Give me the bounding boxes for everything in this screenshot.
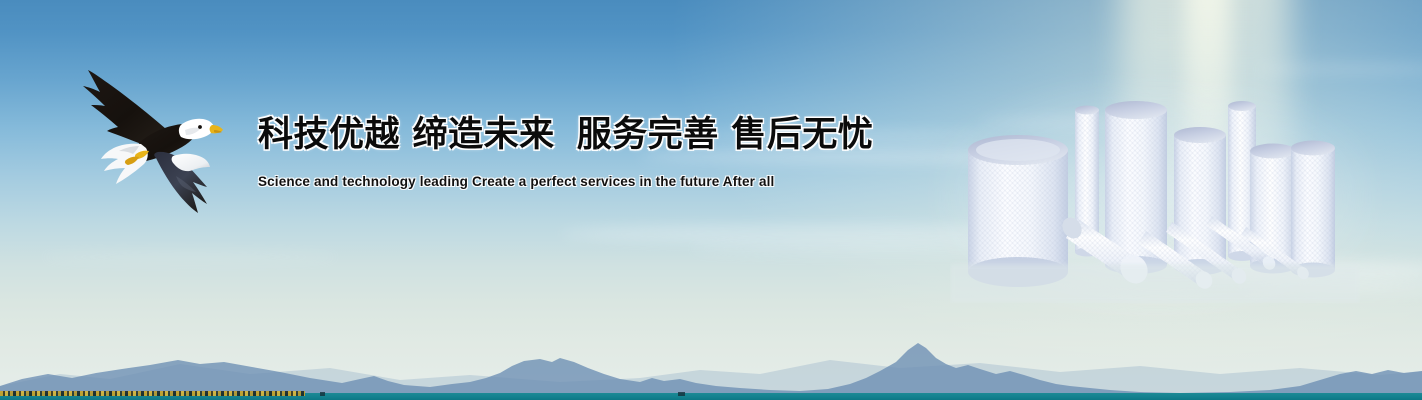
shoreline-detail <box>0 391 305 396</box>
product-image-ptfe-cylinders <box>950 88 1360 303</box>
headline-part-1: 科技优越 缔造未来 <box>258 115 555 155</box>
cloud-streak <box>40 252 340 262</box>
product-cylinder-right-front <box>1291 141 1335 278</box>
eagle-icon <box>78 58 228 218</box>
shoreline-speck <box>320 392 325 396</box>
headline-part-2: 服务完善 售后无忧 <box>577 115 874 155</box>
banner-subtitle: Science and technology leading Create a … <box>258 174 878 189</box>
shoreline-speck <box>678 392 685 396</box>
banner-headline: 科技优越 缔造未来服务完善 售后无忧 <box>258 110 878 160</box>
hero-banner: 科技优越 缔造未来服务完善 售后无忧 Science and technolog… <box>0 0 1422 400</box>
banner-text-block: 科技优越 缔造未来服务完善 售后无忧 Science and technolog… <box>258 110 878 189</box>
